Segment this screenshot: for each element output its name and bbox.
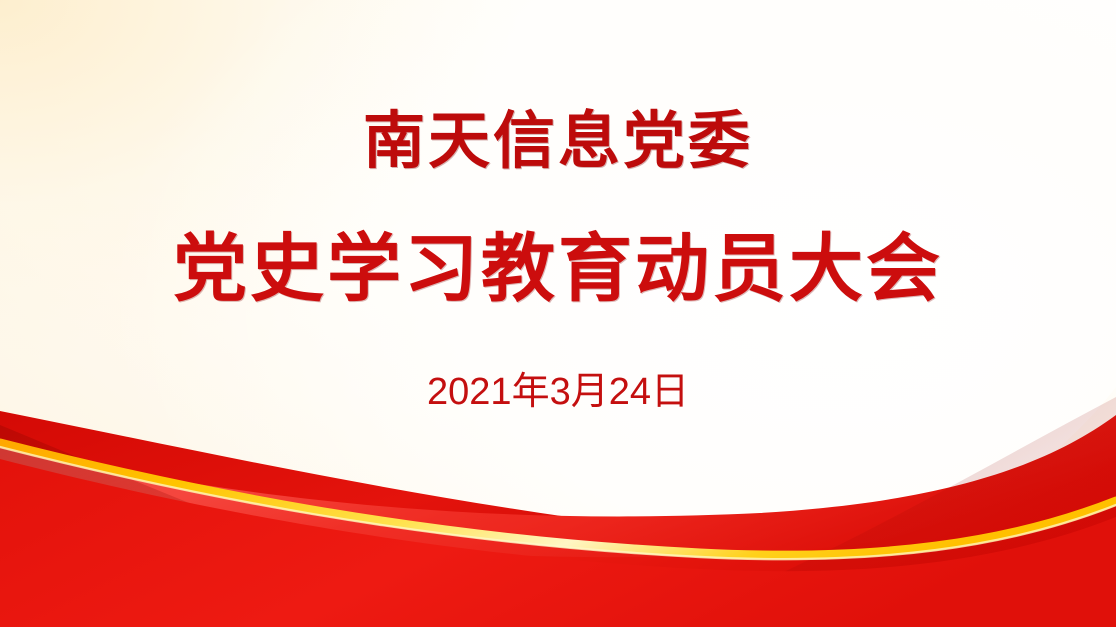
slide-date: 2021年3月24日 <box>0 370 1116 416</box>
bottom-ribbon-waves-decoration <box>0 397 1116 627</box>
page-title-secondary: 党史学习教育动员大会 <box>0 228 1116 311</box>
page-title-primary: 南天信息党委 <box>0 111 1116 173</box>
presentation-slide: 南天信息党委 党史学习教育动员大会 2021年3月24日 <box>0 0 1116 627</box>
